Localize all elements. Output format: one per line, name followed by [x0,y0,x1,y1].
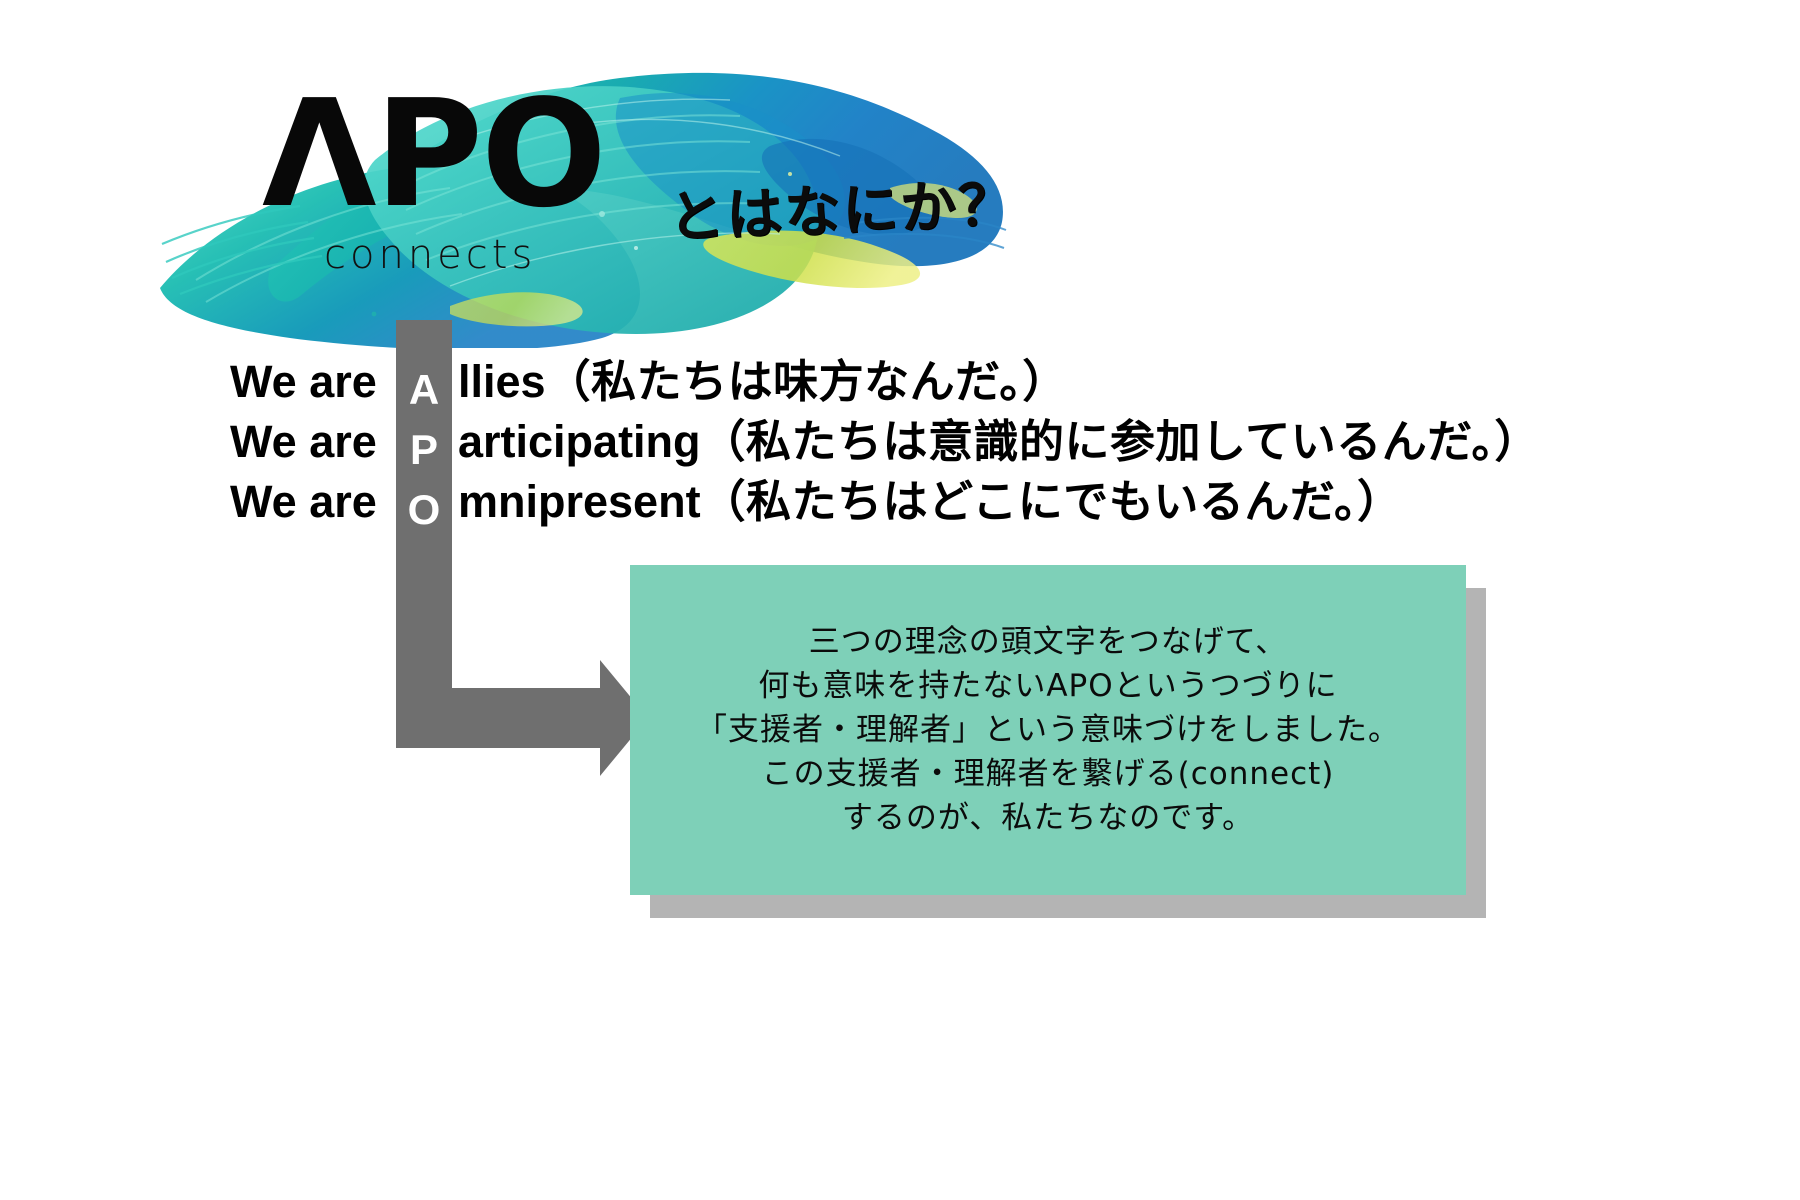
initial-letter-p: P [396,422,452,478]
creed-prefix: We are [230,352,402,412]
creed-prefix: We are [230,412,402,472]
creed-word: articipating [458,412,701,472]
logo-tagline: connects [324,232,536,278]
callout-line: 何も意味を持たないAPOというつづりに [758,664,1337,708]
creed-prefix: We are [230,472,402,532]
logo-wordmark: ΛPO [262,80,605,228]
callout-line: するのが、私たちなのです。 [842,796,1254,840]
apo-logo: ΛPO connects [262,80,682,280]
creed-japanese: （私たちはどこにでもいるんだ。） [701,475,1403,528]
slide-canvas: ΛPO connects とはなにか？ A P O We arellies（私た… [0,0,1800,1200]
callout-box: 三つの理念の頭文字をつなげて、 何も意味を持たないAPOというつづりに 「支援者… [630,565,1466,895]
callout-line: 三つの理念の頭文字をつなげて、 [809,620,1287,664]
callout-line: この支援者・理解者を繋げる(connect) [762,752,1335,796]
initial-letter-a: A [396,362,452,418]
arrow-shaft [396,688,606,748]
creed-word: mnipresent [458,472,701,532]
creed-word: llies [458,352,546,412]
page-title: とはなにか？ [667,159,1018,253]
creed-japanese: （私たちは意識的に参加しているんだ。） [701,415,1540,468]
creed-japanese: （私たちは味方なんだ。） [546,355,1068,408]
callout-line: 「支援者・理解者」という意味づけをしました。 [696,708,1400,752]
initial-letter-o: O [396,482,452,538]
